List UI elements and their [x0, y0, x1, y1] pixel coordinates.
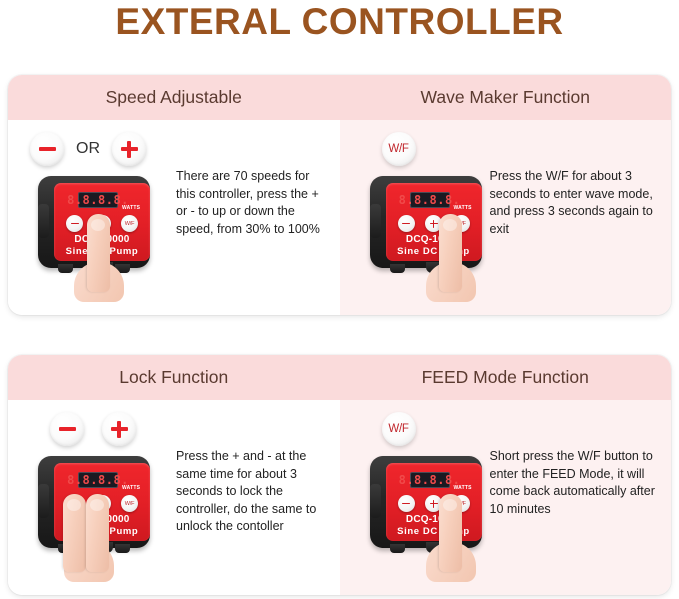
device-foot	[390, 264, 405, 273]
panel-title-speed-adjustable: Speed Adjustable	[8, 75, 340, 120]
display-digits: 8.8.8.8.	[67, 474, 129, 486]
wf-button-icon[interactable]: W/F	[382, 132, 416, 166]
wf-button-icon[interactable]: W/F	[382, 412, 416, 446]
device-wf-key[interactable]: W/F	[121, 495, 138, 512]
device-minus-key[interactable]	[398, 495, 415, 512]
panel-description-speed: There are 70 speeds for this controller,…	[176, 168, 330, 238]
panel-title-lock-function: Lock Function	[8, 355, 340, 400]
device-shell: 8.8.8.8. WATTS W/F DCQ-10000 Sine DC Pum…	[370, 456, 482, 548]
device-face: 8.8.8.8. WATTS W/F DCQ-10000 Sine DC Pum…	[386, 463, 482, 541]
feature-card-1: Speed Adjustable Wave Maker Function OR	[8, 75, 671, 315]
feature-card-2: Lock Function FEED Mode Function	[8, 355, 671, 595]
or-label: OR	[74, 140, 102, 158]
control-legend-feed: W/F	[382, 412, 416, 446]
device-side-left	[38, 484, 49, 518]
control-legend-lock	[50, 412, 136, 446]
wf-icon: W/F	[388, 143, 408, 155]
device-minus-key[interactable]	[398, 215, 415, 232]
device-brand: DCQ-10000 Sine DC Pump	[386, 234, 482, 257]
wf-icon: W/F	[388, 423, 408, 435]
controller-device-illustration: 8.8.8.8. WATTS W/F DCQ-10000 Sine DC Pum…	[362, 176, 490, 276]
controller-device-illustration: 8.8.8.8. WATTS W/F DCQ-10000 Sine DC Pum…	[30, 176, 158, 276]
minus-button-icon[interactable]	[50, 412, 84, 446]
panel-description-wave: Press the W/F for about 3 seconds to ent…	[490, 168, 662, 238]
device-display: 8.8.8.8.	[410, 192, 450, 208]
panel-description-feed: Short press the W/F button to enter the …	[490, 448, 662, 518]
panel-feed-mode: W/F 8.8.8.8. WATTS	[340, 400, 672, 595]
minus-icon	[402, 503, 410, 505]
minus-icon	[71, 223, 79, 225]
device-brand: DCQ-10000 Sine DC Pump	[386, 514, 482, 537]
display-digits: 8.8.8.8.	[399, 194, 461, 206]
minus-icon	[402, 223, 410, 225]
control-legend-wave: W/F	[382, 132, 416, 166]
device-foot	[390, 544, 405, 553]
finger-pressing-wf-key	[439, 494, 462, 572]
wf-icon: W/F	[125, 501, 134, 507]
panel-title-feed-mode: FEED Mode Function	[340, 355, 672, 400]
panel-title-wave-maker: Wave Maker Function	[340, 75, 672, 120]
device-model: DCQ-10000	[386, 234, 482, 246]
device-type: Sine DC Pump	[386, 526, 482, 538]
plus-button-icon[interactable]	[102, 412, 136, 446]
panel-speed-adjustable: OR 8.8.8.8. WATTS	[8, 120, 340, 315]
finger-pressing-plus-key	[87, 214, 110, 292]
panel-lock-function: 8.8.8.8. WATTS W/F DCQ-10000 Sine DC Pum…	[8, 400, 340, 595]
page-title: EXTERAL CONTROLLER	[0, 0, 679, 52]
control-legend-speed: OR	[30, 132, 146, 166]
panel-description-lock: Press the + and - at the same time for a…	[176, 448, 330, 536]
card-1-header: Speed Adjustable Wave Maker Function	[8, 75, 671, 120]
device-minus-key[interactable]	[66, 215, 83, 232]
device-model: DCQ-10000	[386, 514, 482, 526]
device-side-left	[370, 204, 381, 238]
finger-pressing-minus-key	[63, 494, 86, 572]
controller-device-illustration: 8.8.8.8. WATTS W/F DCQ-10000 Sine DC Pum…	[362, 456, 490, 556]
display-digits: 8.8.8.8.	[399, 474, 461, 486]
device-type: Sine DC Pump	[386, 246, 482, 258]
device-display: 8.8.8.8.	[78, 192, 118, 208]
card-2-body: 8.8.8.8. WATTS W/F DCQ-10000 Sine DC Pum…	[8, 400, 671, 595]
finger-pressing-plus-key	[86, 494, 109, 572]
device-face: 8.8.8.8. WATTS W/F DCQ-10000 Sine DC Pum…	[386, 183, 482, 261]
device-foot	[115, 544, 130, 553]
device-display: 8.8.8.8.	[78, 472, 118, 488]
device-foot	[58, 264, 73, 273]
wf-icon: W/F	[125, 221, 134, 227]
minus-button-icon[interactable]	[30, 132, 64, 166]
display-digits: 8.8.8.8.	[67, 194, 129, 206]
controller-device-illustration: 8.8.8.8. WATTS W/F DCQ-10000 Sine DC Pum…	[30, 456, 158, 556]
card-2-header: Lock Function FEED Mode Function	[8, 355, 671, 400]
plus-icon	[111, 427, 128, 430]
plus-button-icon[interactable]	[112, 132, 146, 166]
product-infographic: EXTERAL CONTROLLER Speed Adjustable Wave…	[0, 0, 679, 599]
card-1-body: OR 8.8.8.8. WATTS	[8, 120, 671, 315]
device-shell: 8.8.8.8. WATTS W/F DCQ-10000 Sine DC Pum…	[370, 176, 482, 268]
device-display: 8.8.8.8.	[410, 472, 450, 488]
plus-icon	[121, 147, 138, 150]
plus-icon	[430, 223, 438, 225]
watts-label: WATTS	[122, 485, 140, 491]
watts-label: WATTS	[454, 485, 472, 491]
plus-icon	[430, 503, 438, 505]
finger-pressing-wf-key	[439, 214, 462, 292]
minus-icon	[39, 147, 56, 150]
device-wf-key[interactable]: W/F	[121, 215, 138, 232]
watts-label: WATTS	[454, 205, 472, 211]
panel-wave-maker: W/F 8.8.8.8. WATTS	[340, 120, 672, 315]
device-side-left	[38, 204, 49, 238]
minus-icon	[59, 427, 76, 430]
device-side-left	[370, 484, 381, 518]
watts-label: WATTS	[122, 205, 140, 211]
